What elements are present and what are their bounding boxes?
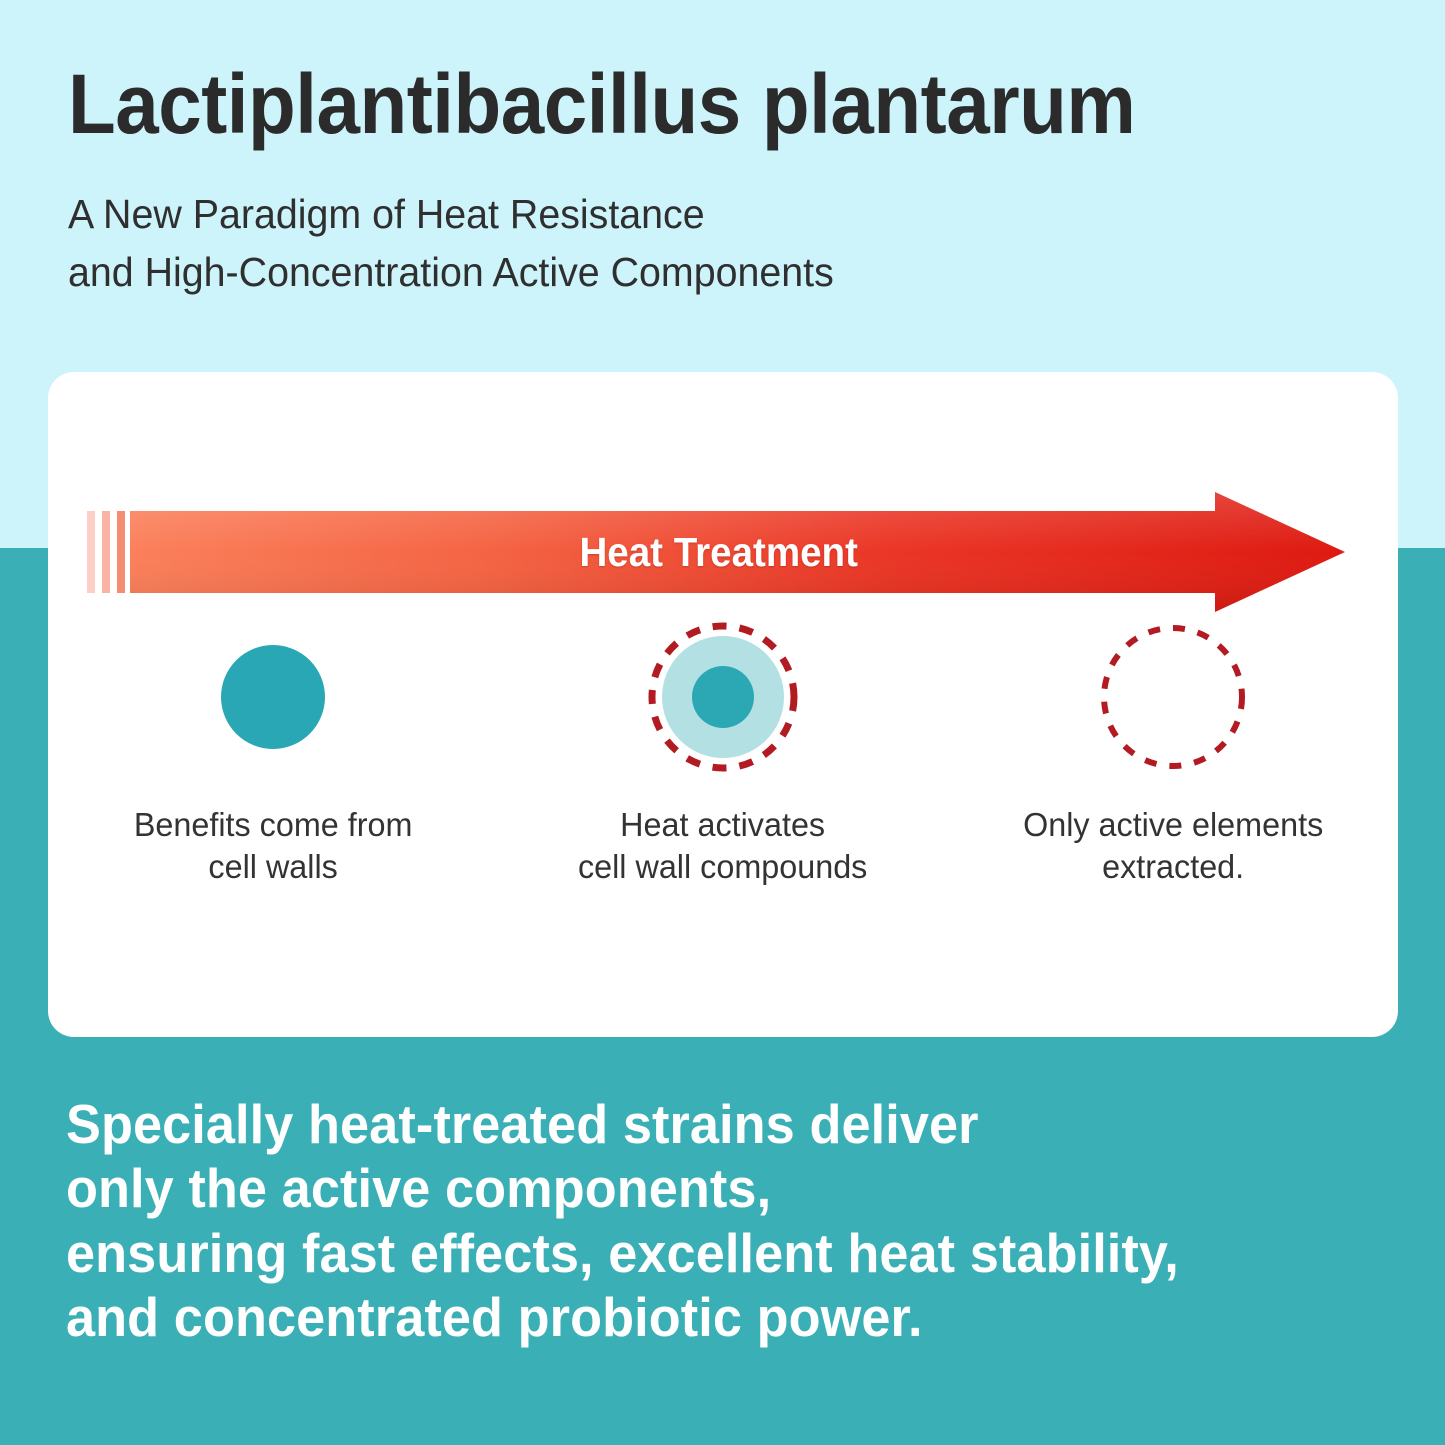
arrow-tick-icon	[117, 511, 125, 593]
closing-line-2: only the active components,	[66, 1156, 1320, 1220]
stage-caption: Benefits come from cell walls	[134, 804, 413, 888]
arrow-tick-icon	[87, 511, 95, 593]
closing-line-3: ensuring fast effects, excellent heat st…	[66, 1221, 1320, 1285]
page-subtitle: A New Paradigm of Heat Resistance and Hi…	[68, 185, 1220, 301]
stage-item: Heat activates cell wall compounds	[498, 622, 948, 888]
solid-teal-cell-icon	[198, 622, 348, 772]
empty-dashed-cell-icon	[1098, 622, 1248, 772]
diagram-card: Heat Treatment Benefits come from cell w…	[48, 372, 1398, 1037]
subtitle-line-2: and High-Concentration Active Components	[68, 243, 1220, 301]
stage-row: Benefits come from cell walls Heat activ…	[48, 622, 1398, 888]
dashed-ring-icon	[1098, 622, 1248, 772]
infographic-poster: Lactiplantibacillus plantarum A New Para…	[0, 0, 1445, 1445]
closing-statement: Specially heat-treated strains deliver o…	[66, 1092, 1320, 1349]
stage-item: Benefits come from cell walls	[48, 622, 498, 888]
stage-caption: Heat activates cell wall compounds	[578, 804, 867, 888]
dashed-ring-icon	[648, 622, 798, 772]
subtitle-line-1: A New Paradigm of Heat Resistance	[68, 185, 1220, 243]
cell-body-icon	[221, 645, 325, 749]
closing-line-1: Specially heat-treated strains deliver	[66, 1092, 1320, 1156]
closing-line-4: and concentrated probiotic power.	[66, 1285, 1320, 1349]
stage-item: Only active elements extracted.	[948, 622, 1398, 888]
heat-treatment-label: Heat Treatment	[166, 492, 1308, 612]
page-title: Lactiplantibacillus plantarum	[68, 62, 1314, 148]
heat-treatment-arrow-row: Heat Treatment	[48, 492, 1398, 612]
stage-caption: Only active elements extracted.	[1023, 804, 1323, 888]
arrow-tick-icon	[102, 511, 110, 593]
heat-activated-cell-icon	[648, 622, 798, 772]
